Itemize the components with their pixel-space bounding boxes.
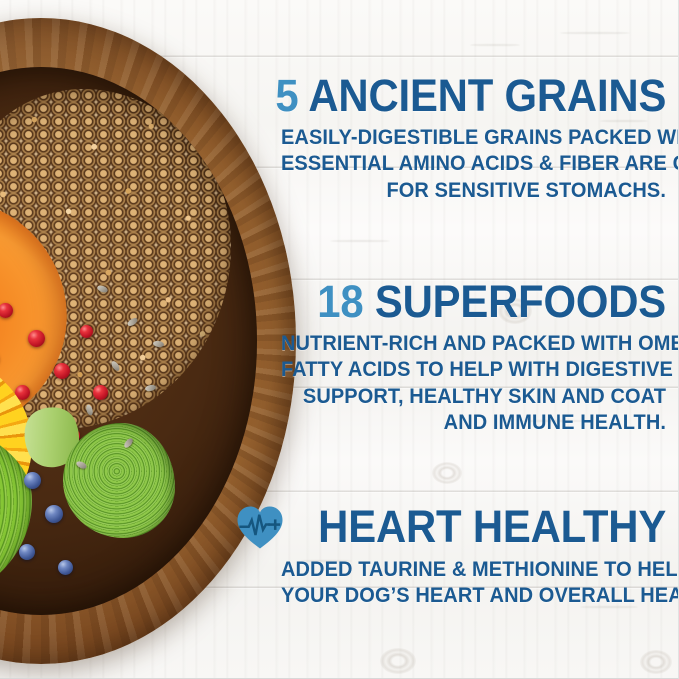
description-line: ADDED TAURINE & METHIONINE TO HELP SUPPO… bbox=[281, 556, 666, 582]
feature-headline-row: 18 SUPERFOODS bbox=[252, 280, 666, 324]
feature-description: ADDED TAURINE & METHIONINE TO HELP SUPPO… bbox=[281, 556, 666, 608]
feature-number: 5 bbox=[275, 70, 308, 121]
description-line: NUTRIENT-RICH AND PACKED WITH OMEGA bbox=[281, 330, 666, 356]
description-line: YOUR DOG’S HEART AND OVERALL HEALTH. bbox=[281, 582, 666, 608]
feature-block-ancient-grains: 5 ANCIENT GRAINS EASILY-DIGESTIBLE GRAIN… bbox=[252, 74, 666, 203]
description-line: SUPPORT, HEALTHY SKIN AND COAT bbox=[281, 383, 666, 409]
description-line: FOR SENSITIVE STOMACHS. bbox=[281, 177, 666, 203]
feature-title: HEART HEALTHY bbox=[318, 501, 666, 552]
description-line: FATTY ACIDS TO HELP WITH DIGESTIVE bbox=[281, 356, 666, 382]
feature-headline-row: 5 ANCIENT GRAINS bbox=[252, 74, 666, 118]
product-feature-poster: 5 ANCIENT GRAINS EASILY-DIGESTIBLE GRAIN… bbox=[0, 0, 679, 679]
feature-block-superfoods: 18 SUPERFOODS NUTRIENT-RICH AND PACKED W… bbox=[252, 280, 666, 435]
description-line: AND IMMUNE HEALTH. bbox=[281, 409, 666, 435]
feature-title: ANCIENT GRAINS bbox=[308, 70, 666, 121]
description-line: EASILY-DIGESTIBLE GRAINS PACKED WITH bbox=[281, 124, 666, 150]
heart-pulse-icon bbox=[236, 505, 284, 550]
feature-headline: 5 ANCIENT GRAINS bbox=[275, 74, 666, 118]
feature-title: SUPERFOODS bbox=[375, 276, 666, 327]
feature-description: NUTRIENT-RICH AND PACKED WITH OMEGA FATT… bbox=[281, 330, 666, 435]
feature-headline-row: HEART HEALTHY bbox=[252, 505, 666, 550]
feature-block-heart-healthy: HEART HEALTHY ADDED TAURINE & METHIONINE… bbox=[252, 505, 666, 608]
feature-number: 18 bbox=[317, 276, 375, 327]
feature-text-column: 5 ANCIENT GRAINS EASILY-DIGESTIBLE GRAIN… bbox=[252, 0, 666, 679]
feature-headline: HEART HEALTHY bbox=[318, 505, 666, 549]
description-line: ESSENTIAL AMINO ACIDS & FIBER ARE GREAT bbox=[281, 150, 666, 176]
feature-headline: 18 SUPERFOODS bbox=[317, 280, 666, 324]
feature-description: EASILY-DIGESTIBLE GRAINS PACKED WITH ESS… bbox=[281, 124, 666, 203]
